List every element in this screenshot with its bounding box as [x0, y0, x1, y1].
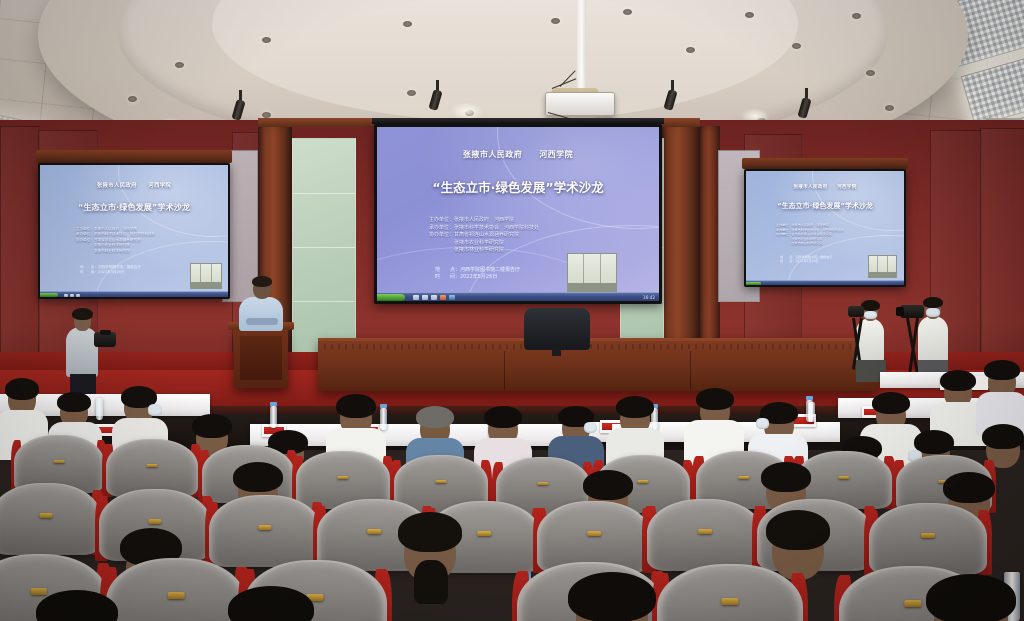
videographer-two	[918, 316, 948, 362]
audience-hair	[940, 370, 976, 391]
auditorium-seat[interactable]	[664, 566, 796, 621]
frosted-glass-panel	[292, 138, 356, 362]
slide-footer-line: 时 间：2022年5月26日	[435, 274, 659, 281]
recessed-downlight	[686, 47, 695, 53]
audience-hair	[761, 462, 811, 492]
chair-stem	[552, 346, 561, 356]
recessed-downlight	[403, 21, 412, 27]
seat-number-plate	[435, 480, 446, 484]
audience-hair	[416, 406, 454, 428]
recessed-downlight	[866, 70, 875, 76]
recessed-downlight	[407, 90, 416, 96]
seat-number-plate	[738, 476, 749, 480]
slide-header: 张掖市人民政府 河西学院	[746, 184, 904, 190]
seat-number-plate	[838, 476, 849, 480]
water-bottle	[808, 402, 815, 422]
audience-hair	[5, 378, 39, 400]
face-mask	[926, 308, 940, 317]
audience-hair	[398, 512, 462, 552]
recessed-downlight	[885, 105, 894, 111]
speaker-torso	[239, 297, 283, 331]
wall-panel	[0, 126, 40, 378]
bottle-cap	[380, 404, 387, 408]
slide-title: “生态立市·绿色发展”学术沙龙	[746, 201, 904, 211]
audience-hair	[984, 360, 1020, 380]
recessed-downlight	[128, 96, 137, 102]
seat-number-plate	[904, 600, 921, 606]
audience-hair	[766, 510, 830, 550]
right-projection-screen[interactable]: 张掖市人民政府 河西学院 “生态立市·绿色发展”学术沙龙 主办单位：张掖市人民政…	[744, 169, 906, 287]
audience-hair	[192, 414, 232, 438]
center-projection-screen[interactable]: 张掖市人民政府 河西学院 “生态立市·绿色发展”学术沙龙 主办单位：张掖市人民政…	[374, 124, 662, 304]
ppt-thumbnail-panel[interactable]	[190, 263, 222, 289]
face-mask	[864, 311, 877, 319]
ceiling-projector	[545, 92, 615, 116]
seat-number-plate	[921, 533, 935, 538]
auditorium-seat[interactable]	[0, 484, 96, 554]
audience-hair	[696, 388, 734, 410]
water-bottle	[96, 398, 103, 420]
seat-number-plate	[148, 519, 161, 524]
slide-taskbar[interactable]	[746, 280, 904, 285]
audience-hair	[336, 394, 376, 418]
slide-body-line: 主办单位：张掖市人民政府 河西学院	[429, 217, 659, 225]
videographer-hair	[923, 297, 943, 308]
slide-title: “生态立市·绿色发展”学术沙龙	[40, 201, 228, 213]
head-table[interactable]	[318, 338, 878, 391]
audience-hair	[568, 572, 656, 621]
start-button[interactable]	[40, 293, 58, 297]
ie-icon[interactable]	[413, 295, 419, 300]
ppt-thumbnail-panel[interactable]	[868, 255, 897, 278]
speaker-arms	[246, 318, 278, 325]
seat-number-plate	[537, 482, 548, 486]
seat-number-plate	[587, 531, 601, 536]
bottle-cap	[270, 402, 277, 406]
audience-hair	[57, 392, 91, 412]
auditorium-seat[interactable]	[652, 500, 758, 570]
word-icon[interactable]	[449, 295, 455, 300]
seat-number-plate	[367, 529, 381, 534]
wall-panel	[980, 128, 1024, 380]
speaker-hair	[252, 276, 272, 287]
seat-number-plate	[477, 531, 491, 536]
slide-body-line: 张掖市林业科学研究院	[429, 247, 659, 255]
ppt-icon[interactable]	[440, 295, 446, 300]
auditorium-seat[interactable]	[112, 560, 240, 621]
video-camera	[848, 306, 864, 317]
seat-number-plate	[54, 460, 65, 464]
seat-number-plate	[698, 529, 712, 534]
start-button[interactable]	[746, 282, 761, 285]
camera-lens	[100, 330, 111, 335]
ppt-thumbnail-panel[interactable]	[567, 253, 617, 293]
slide-taskbar[interactable]: 16:42	[377, 292, 659, 301]
recessed-downlight	[175, 62, 184, 68]
audience-hair	[926, 574, 1016, 621]
wood-column	[700, 126, 720, 372]
right-screen-valance	[742, 158, 908, 169]
audience-hair	[616, 396, 654, 418]
ie-icon[interactable]	[64, 294, 68, 297]
auditorium-seat[interactable]	[874, 504, 982, 574]
seat-number-plate	[168, 592, 185, 598]
audience-hair	[233, 462, 283, 492]
audience-ponytail	[414, 560, 448, 604]
slide-header: 张掖市人民政府 河西学院	[377, 149, 659, 160]
presider-chair[interactable]	[524, 308, 590, 350]
auditorium-seat[interactable]	[214, 496, 316, 566]
recessed-downlight	[551, 18, 560, 24]
media-icon[interactable]	[431, 295, 437, 300]
left-projection-screen[interactable]: 张掖市人民政府 河西学院 “生态立市·绿色发展”学术沙龙 主办单位：张掖市人民政…	[38, 163, 230, 299]
recessed-downlight	[852, 13, 861, 19]
audience-hair	[943, 472, 995, 503]
folder-icon[interactable]	[70, 294, 74, 297]
face-mask	[148, 404, 162, 416]
folder-icon[interactable]	[422, 295, 428, 300]
taskbar-clock: 16:42	[643, 295, 655, 300]
slide-body-line: 张掖市林业科学研究院	[776, 241, 904, 246]
slide-body-line: 张掖市林业科学研究院	[76, 249, 226, 254]
slide-body-line: 协办单位：甘肃省祁连山水源涵养研究院	[429, 232, 659, 240]
face-mask	[584, 422, 597, 433]
recessed-downlight	[792, 43, 801, 49]
left-screen-valance	[36, 150, 232, 163]
seat-number-plate	[337, 476, 348, 480]
projector-mount-pole	[577, 0, 586, 96]
seat-number-plate	[258, 525, 271, 530]
slide-header: 张掖市人民政府 河西学院	[40, 181, 228, 189]
camera-lens	[896, 307, 904, 316]
seat-number-plate	[31, 588, 47, 594]
slide-taskbar[interactable]	[40, 291, 228, 297]
seat-number-plate	[147, 464, 158, 468]
water-bottle	[380, 408, 387, 430]
conference-hall-scene: 张掖市人民政府 河西学院 “生态立市·绿色发展”学术沙龙 主办单位：张掖市人民政…	[0, 0, 1024, 621]
bottle-cap	[806, 396, 813, 400]
seat-number-plate	[40, 513, 53, 518]
audience-hair	[872, 392, 910, 414]
water-bottle	[270, 406, 277, 428]
seat-number-plate	[637, 480, 648, 484]
seat-number-plate	[721, 598, 738, 604]
media-icon[interactable]	[76, 294, 80, 297]
audience-hair	[583, 470, 633, 500]
recessed-downlight	[262, 37, 271, 43]
photographer-hair	[72, 308, 93, 320]
lectern-front-panel	[240, 336, 282, 380]
recessed-downlight	[745, 12, 754, 18]
face-mask	[756, 418, 769, 429]
wood-column	[660, 120, 700, 374]
auditorium-seat[interactable]	[110, 440, 194, 496]
start-button[interactable]	[377, 294, 405, 301]
slide-title: “生态立市·绿色发展”学术沙龙	[377, 177, 659, 196]
audience-hair	[484, 406, 522, 428]
recessed-downlight	[623, 9, 632, 15]
audience-hair	[982, 424, 1024, 449]
